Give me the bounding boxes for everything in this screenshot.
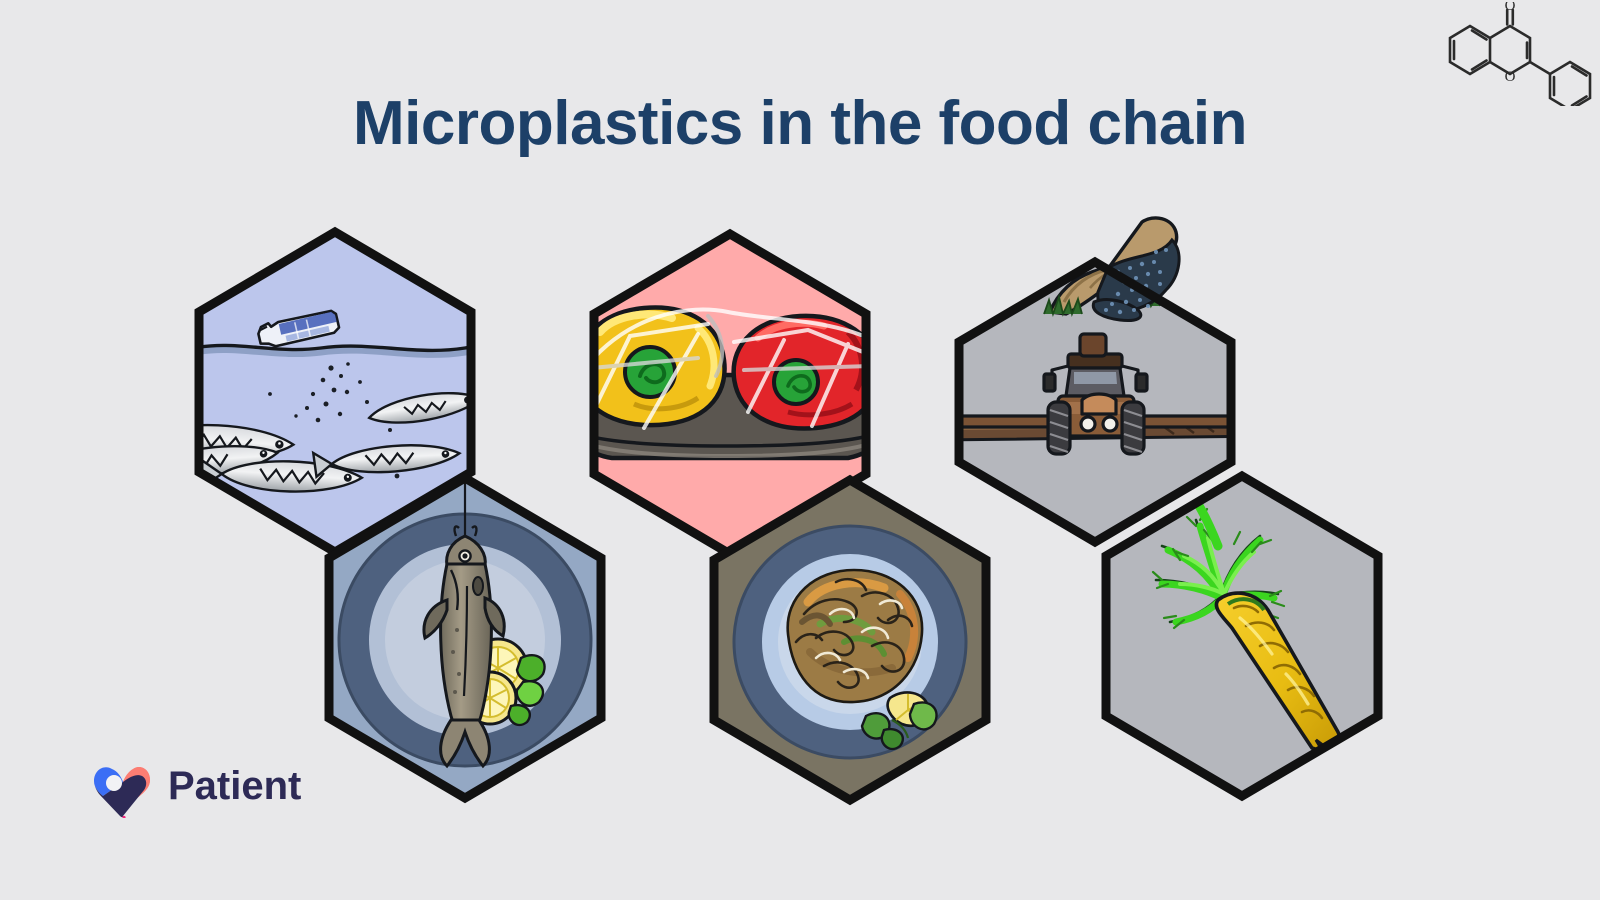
molecule-ring-oxygen-label: O (1505, 69, 1516, 85)
patient-logo-text: Patient (168, 764, 301, 809)
molecule-carbonyl-oxygen-label: O (1505, 2, 1516, 14)
hex-background (329, 478, 601, 798)
patient-logo[interactable]: Patient (92, 758, 302, 822)
hex-carrot[interactable] (1100, 468, 1390, 808)
hex-cooked-meal[interactable] (712, 472, 992, 802)
hex-background (714, 480, 986, 800)
page-title: Microplastics in the food chain (0, 88, 1600, 159)
hex-cooked-fish[interactable] (325, 470, 610, 805)
hex-background (1106, 476, 1378, 796)
patient-logo-mark-icon (92, 760, 154, 818)
flavone-molecule-icon: O O (1432, 2, 1592, 106)
